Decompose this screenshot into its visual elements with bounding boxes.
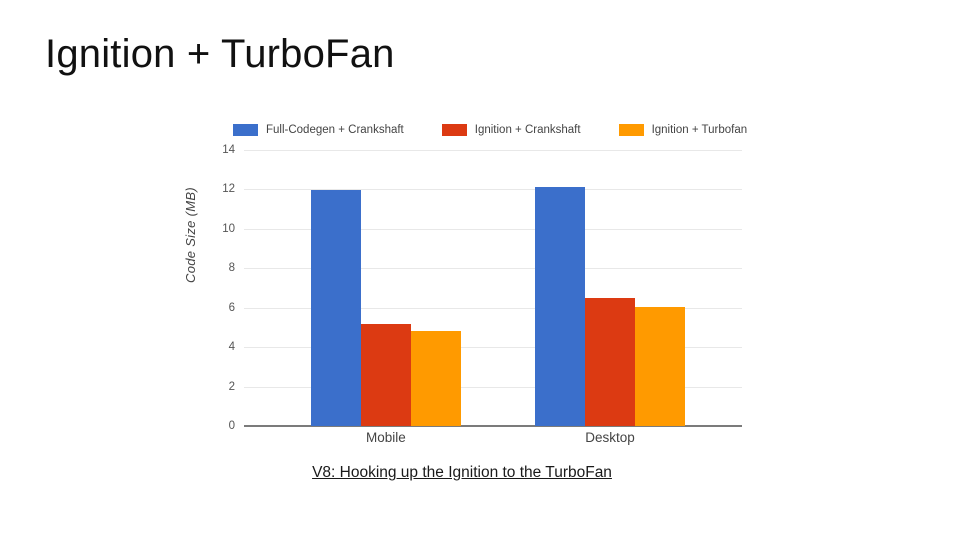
chart-bar bbox=[585, 298, 635, 426]
chart-gridline bbox=[244, 150, 742, 151]
y-axis-tick-label: 8 bbox=[229, 262, 235, 274]
chart-plot-area: 02468101214 bbox=[244, 150, 742, 426]
legend-swatch-icon bbox=[442, 124, 467, 136]
legend-swatch-icon bbox=[233, 124, 258, 136]
chart-bar bbox=[411, 331, 461, 426]
bar-chart-figure: Full-Codegen + CrankshaftIgnition + Cran… bbox=[177, 108, 747, 458]
legend-item: Ignition + Crankshaft bbox=[442, 124, 581, 136]
legend-label: Ignition + Crankshaft bbox=[475, 124, 581, 136]
chart-bar bbox=[635, 307, 685, 426]
legend-label: Full-Codegen + Crankshaft bbox=[266, 124, 404, 136]
legend-item: Full-Codegen + Crankshaft bbox=[233, 124, 404, 136]
y-axis-tick-label: 2 bbox=[229, 381, 235, 393]
chart-caption-link[interactable]: V8: Hooking up the Ignition to the Turbo… bbox=[312, 464, 612, 482]
y-axis-tick-label: 14 bbox=[222, 144, 235, 156]
chart-legend: Full-Codegen + CrankshaftIgnition + Cran… bbox=[233, 120, 743, 140]
y-axis-tick-label: 6 bbox=[229, 302, 235, 314]
y-axis-tick-label: 10 bbox=[222, 223, 235, 235]
chart-bar bbox=[535, 187, 585, 426]
x-axis-category-label: Desktop bbox=[585, 430, 635, 445]
legend-swatch-icon bbox=[619, 124, 644, 136]
slide-title: Ignition + TurboFan bbox=[45, 32, 395, 76]
y-axis-tick-label: 12 bbox=[222, 183, 235, 195]
y-axis-tick-label: 4 bbox=[229, 341, 235, 353]
y-axis-title: Code Size (MB) bbox=[183, 187, 198, 283]
chart-bar bbox=[311, 190, 361, 426]
y-axis-tick-label: 0 bbox=[229, 420, 235, 432]
chart-bar bbox=[361, 324, 411, 426]
x-axis-category-label: Mobile bbox=[366, 430, 406, 445]
legend-label: Ignition + Turbofan bbox=[652, 124, 748, 136]
legend-item: Ignition + Turbofan bbox=[619, 124, 748, 136]
